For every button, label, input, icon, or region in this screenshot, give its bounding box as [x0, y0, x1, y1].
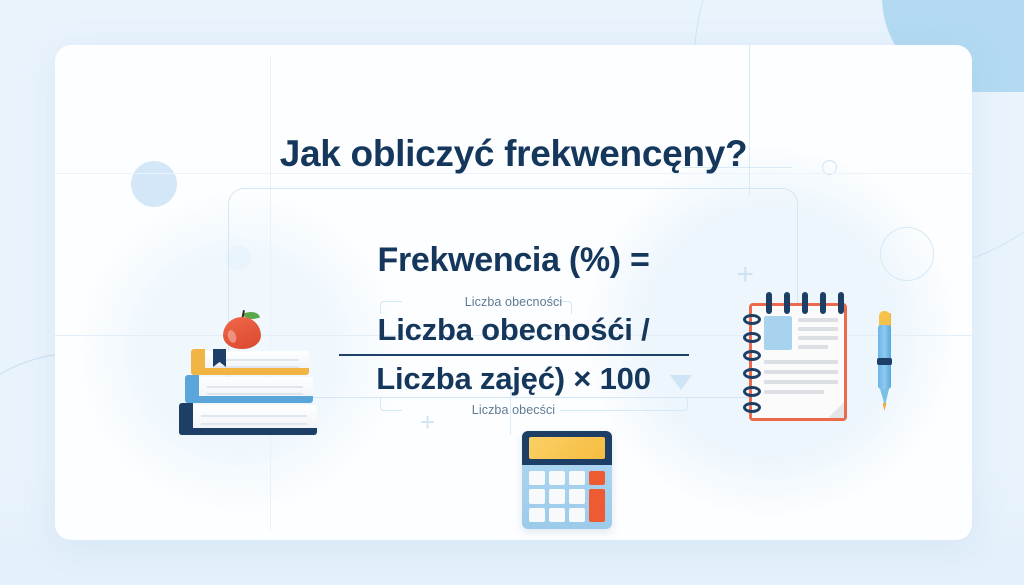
apple-icon: [223, 309, 261, 349]
notebook-image-block: [764, 316, 792, 350]
calculator-screen: [529, 437, 605, 459]
pen-body: [878, 325, 891, 389]
formula-heading: Frekwencia (%) =: [55, 240, 972, 280]
notebook-body: [749, 303, 847, 421]
calculator-key: [569, 489, 585, 503]
books-illustration: [177, 303, 322, 443]
calculator-key: [529, 471, 545, 485]
spiral-ring: [743, 402, 761, 413]
page-title: Jak obliczyć frekwencęny?: [55, 133, 972, 175]
calculator-key: [529, 489, 545, 503]
apple-body: [223, 317, 261, 349]
calculator-bezel: [522, 431, 612, 465]
annotation-top-label: Liczba obecności: [451, 295, 577, 309]
notebook-page-fold: [828, 402, 844, 418]
spiral-ring: [743, 386, 761, 397]
book-cover: [191, 368, 309, 375]
notebook-illustration: [739, 295, 894, 425]
calculator-key: [549, 489, 565, 503]
calculator-icon: [522, 431, 612, 529]
calculator-key: [549, 508, 565, 522]
calculator-key: [569, 508, 585, 522]
annotation-bottom-label: Liczba obecści: [458, 403, 569, 417]
pen-nib: [883, 403, 887, 411]
main-content-card: + + Jak obliczyć frekwencęny? Frekwencia…: [55, 45, 972, 540]
spiral-top-ring: [802, 292, 808, 314]
spiral-top-ring: [784, 292, 790, 314]
apple-highlight: [226, 329, 238, 344]
book-bottom: [179, 403, 317, 435]
calculator-key: [569, 471, 585, 485]
calculator-key-accent: [589, 471, 605, 485]
book-cover: [179, 428, 317, 435]
spiral-top-ring: [838, 292, 844, 314]
spiral-top-ring: [766, 292, 772, 314]
spiral-ring: [743, 332, 761, 343]
book-cover: [185, 396, 313, 403]
spiral-ring: [743, 350, 761, 361]
spiral-ring: [743, 314, 761, 325]
notebook-page: [752, 306, 844, 418]
calculator-key: [549, 471, 565, 485]
pen-grip-band: [877, 358, 892, 365]
spiral-ring: [743, 368, 761, 379]
book-top: [191, 349, 309, 375]
calculator-key-accent-tall: [589, 489, 605, 522]
pen-icon: [877, 311, 892, 415]
calculator-key: [529, 508, 545, 522]
book-middle: [185, 375, 313, 403]
formula-fraction-bar: [339, 354, 689, 356]
spiral-top-ring: [820, 292, 826, 314]
calculator-keypad: [529, 471, 605, 522]
